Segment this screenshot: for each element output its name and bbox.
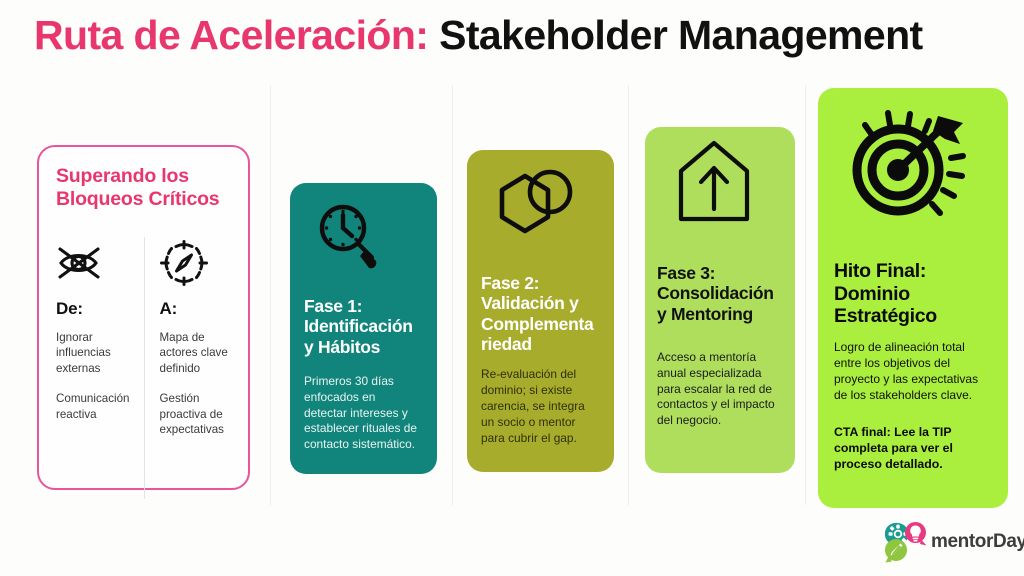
phase-card-3-title: Fase 3: Consolidación y Mentoring bbox=[657, 263, 781, 324]
column-divider bbox=[628, 85, 629, 505]
blockers-from-item: Ignorar influencias externas bbox=[56, 330, 131, 376]
column-divider bbox=[270, 85, 271, 505]
hexagon-circle-icon bbox=[487, 168, 600, 246]
column-divider bbox=[452, 85, 453, 505]
blockers-card: Superando los Bloqueos Críticos De: Igno… bbox=[37, 145, 250, 490]
mentorday-logo-marks bbox=[885, 521, 929, 563]
final-milestone-cta: CTA final: Lee la TIP completa para ver … bbox=[834, 424, 992, 473]
final-milestone-body: Logro de alineación total entre los obje… bbox=[834, 340, 992, 404]
phase-card-3-body: Acceso a mentoría anual especializada pa… bbox=[657, 350, 781, 429]
blockers-from-column: De: Ignorar influencias externas Comunic… bbox=[56, 237, 144, 499]
blockers-from-item: Comunicación reactiva bbox=[56, 391, 131, 422]
phase-card-1: Fase 1: Identificación y Hábitos Primero… bbox=[290, 183, 437, 474]
page-title: Ruta de Aceleración: Stakeholder Managem… bbox=[34, 12, 1004, 59]
blockers-to-item: Gestión proactiva de expectativas bbox=[160, 391, 232, 437]
phase-card-2-title: Fase 2: Validación y Complementa riedad bbox=[481, 273, 600, 354]
mentorday-logo[interactable]: mentorDay bbox=[885, 521, 1024, 563]
phase-card-1-body: Primeros 30 días enfocados en detectar i… bbox=[304, 374, 421, 453]
infographic-canvas: Ruta de Aceleración: Stakeholder Managem… bbox=[0, 0, 1024, 576]
phase-card-2-body: Re-evaluación del dominio; si existe car… bbox=[481, 367, 600, 446]
blockers-to-column: A: Mapa de actores clave definido Gestió… bbox=[144, 237, 232, 499]
blockers-heading: Superando los Bloqueos Críticos bbox=[56, 165, 231, 211]
page-title-dark: Stakeholder Management bbox=[439, 12, 923, 58]
clock-magnifier-icon bbox=[314, 200, 421, 272]
final-milestone-title: Hito Final: Dominio Estratégico bbox=[834, 260, 992, 328]
phase-card-2: Fase 2: Validación y Complementa riedad … bbox=[467, 150, 614, 472]
house-arrow-up-icon bbox=[675, 139, 781, 225]
blockers-to-label: A: bbox=[160, 299, 232, 319]
column-divider bbox=[805, 85, 806, 505]
target-arrow-icon bbox=[846, 106, 992, 224]
final-milestone-card: Hito Final: Dominio Estratégico Logro de… bbox=[818, 88, 1008, 508]
phase-card-1-title: Fase 1: Identificación y Hábitos bbox=[304, 296, 421, 357]
mentorday-logo-text: mentorDay bbox=[931, 531, 1024, 553]
compass-icon bbox=[160, 237, 232, 289]
eye-off-icon bbox=[56, 237, 131, 289]
blockers-to-item: Mapa de actores clave definido bbox=[160, 330, 232, 376]
blockers-from-label: De: bbox=[56, 299, 131, 319]
page-title-accent: Ruta de Aceleración: bbox=[34, 12, 428, 58]
phase-card-3: Fase 3: Consolidación y Mentoring Acceso… bbox=[645, 127, 795, 473]
